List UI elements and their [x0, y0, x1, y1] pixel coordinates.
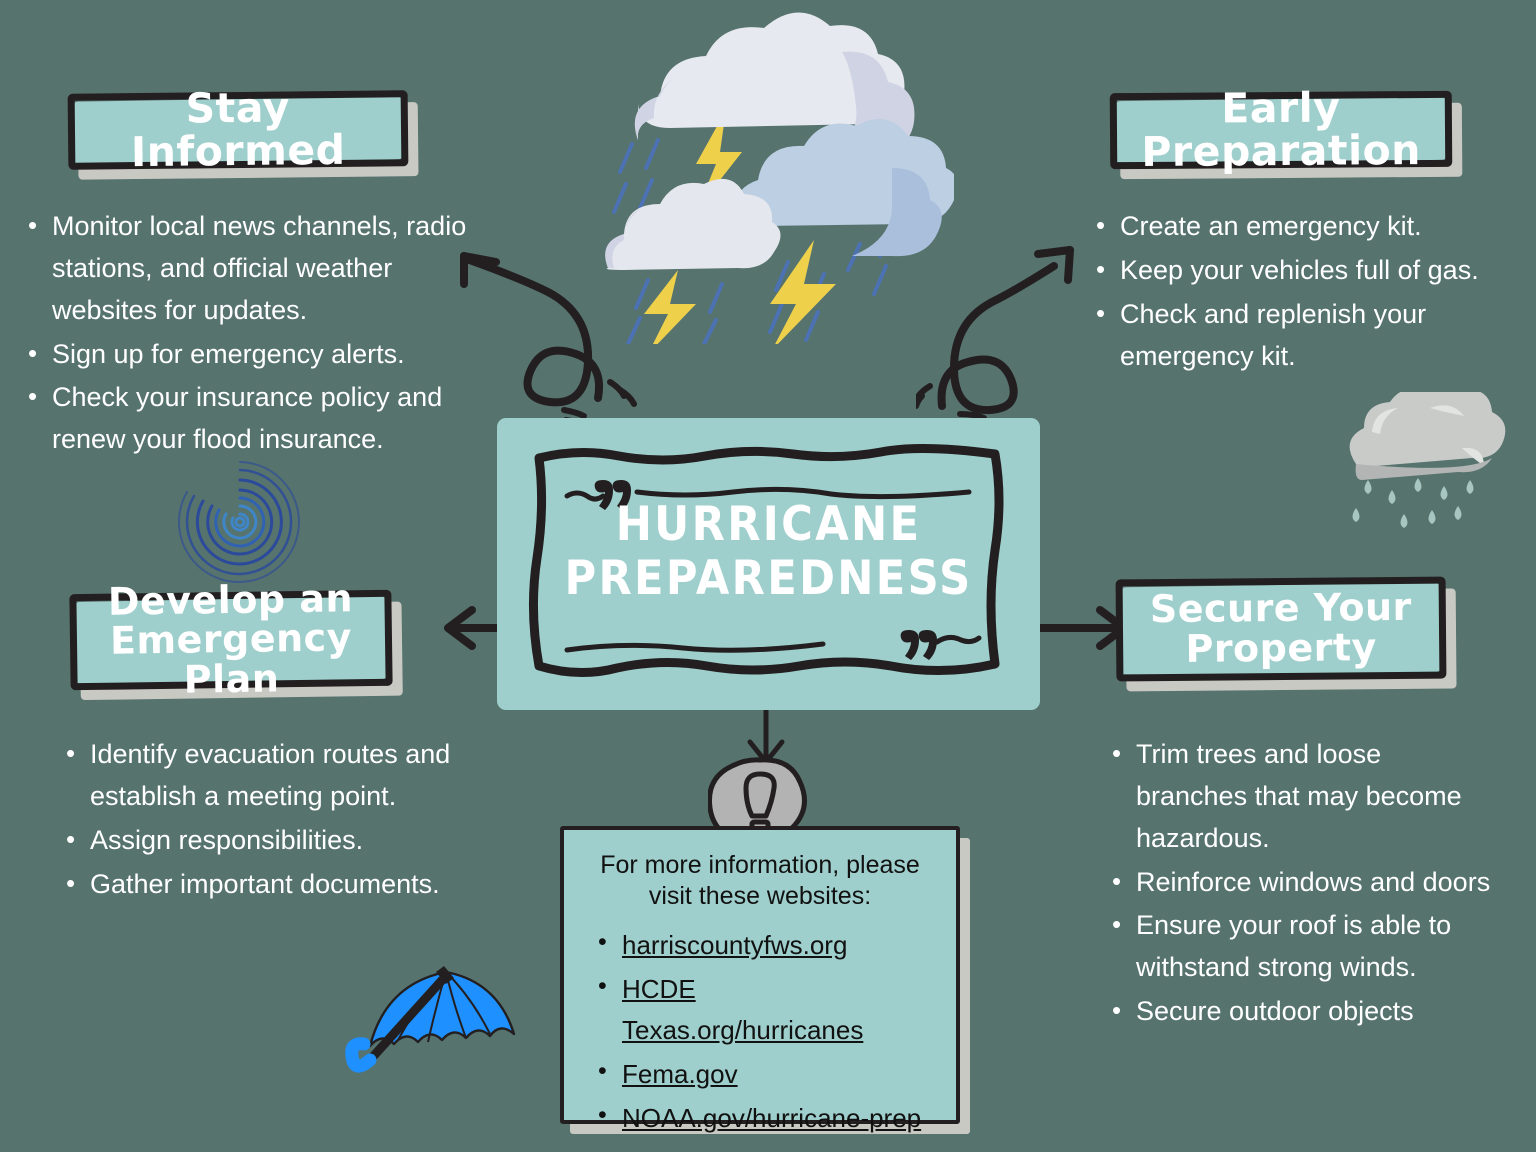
- list-item: Identify evacuation routes and establish…: [58, 734, 478, 818]
- page-title: HURRICANE PREPAREDNESS: [519, 498, 1019, 605]
- infographic-canvas: Stay Informed Early Preparation Develop …: [0, 0, 1536, 1152]
- list-item: Trim trees and loose branches that may b…: [1104, 734, 1492, 860]
- bullets-secure-property: Trim trees and loose branches that may b…: [1104, 734, 1492, 1035]
- arrow-down-icon: [706, 704, 826, 832]
- resources-intro: For more information, please visit these…: [578, 850, 942, 911]
- list-item: Fema.gov: [592, 1054, 942, 1095]
- resource-link[interactable]: HCDE Texas.org/hurricanes: [622, 974, 863, 1045]
- list-item: harriscountyfws.org: [592, 925, 942, 966]
- rain-cloud-icon: [1334, 392, 1510, 528]
- list-item: Gather important documents.: [58, 864, 478, 906]
- title-line-2: PREPAREDNESS: [564, 551, 972, 606]
- resources-card: For more information, please visit these…: [560, 826, 960, 1124]
- umbrella-icon: [334, 942, 530, 1088]
- bullets-early-preparation: Create an emergency kit. Keep your vehic…: [1088, 206, 1488, 379]
- list-item: Secure outdoor objects: [1104, 991, 1492, 1033]
- list-item: Create an emergency kit.: [1088, 206, 1488, 248]
- bullets-emergency-plan: Identify evacuation routes and establish…: [58, 734, 478, 907]
- list-item: Sign up for emergency alerts.: [20, 334, 472, 376]
- heading-stay-informed: Stay Informed: [68, 90, 409, 170]
- title-line-1: HURRICANE: [616, 497, 922, 552]
- list-item: NOAA.gov/hurricane-prep: [592, 1098, 942, 1139]
- list-item: Reinforce windows and doors: [1104, 862, 1492, 904]
- resource-link[interactable]: Fema.gov: [622, 1059, 738, 1089]
- heading-line-2: Emergency Plan: [110, 616, 352, 702]
- heading-label: Stay Informed: [68, 90, 409, 170]
- main-title-card: HURRICANE PREPAREDNESS: [497, 418, 1040, 710]
- heading-label: Develop an Emergency Plan: [69, 590, 392, 690]
- resource-link[interactable]: harriscountyfws.org: [622, 930, 847, 960]
- heading-label: Early Preparation: [1110, 91, 1453, 169]
- list-item: Check your insurance policy and renew yo…: [20, 377, 472, 461]
- list-item: Keep your vehicles full of gas.: [1088, 250, 1488, 292]
- heading-early-preparation: Early Preparation: [1110, 91, 1453, 169]
- resources-content: For more information, please visit these…: [560, 826, 960, 1139]
- bullets-stay-informed: Monitor local news channels, radio stati…: [20, 206, 472, 463]
- list-item: HCDE Texas.org/hurricanes: [592, 969, 942, 1051]
- list-item: Ensure your roof is able to withstand st…: [1104, 905, 1492, 989]
- hurricane-spiral-icon: [172, 456, 308, 588]
- resources-link-list: harriscountyfws.org HCDE Texas.org/hurri…: [578, 925, 942, 1139]
- list-item: Check and replenish your emergency kit.: [1088, 294, 1488, 378]
- heading-emergency-plan: Develop an Emergency Plan: [69, 590, 392, 690]
- heading-label: Secure Your Property: [1116, 577, 1447, 682]
- storm-clouds-lightning-icon: [592, 12, 954, 344]
- resource-link[interactable]: NOAA.gov/hurricane-prep: [622, 1103, 921, 1133]
- curly-arrow-up-right-icon: [916, 228, 1102, 424]
- list-item: Assign responsibilities.: [58, 820, 478, 862]
- heading-secure-property: Secure Your Property: [1116, 577, 1447, 682]
- heading-line-2: Property: [1185, 625, 1377, 671]
- list-item: Monitor local news channels, radio stati…: [20, 206, 472, 332]
